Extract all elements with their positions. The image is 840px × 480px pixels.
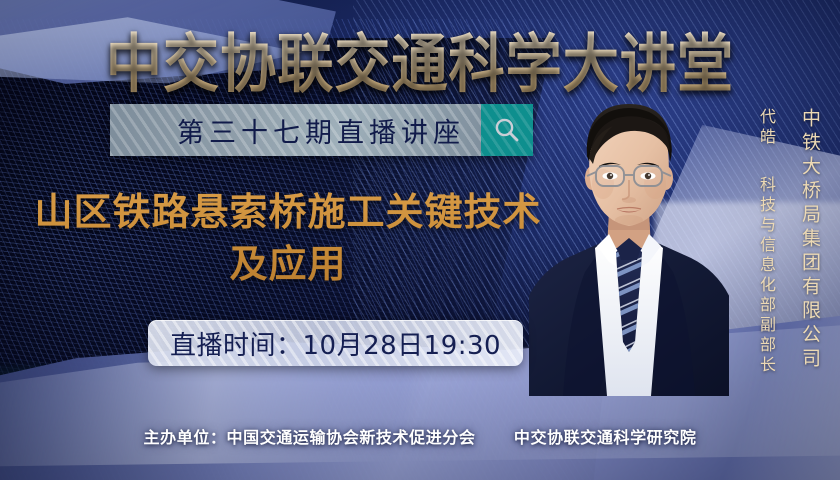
speaker-name: 代皓 bbox=[754, 108, 778, 148]
broadcast-time-pill: 直播时间：10月28日19:30 bbox=[148, 320, 523, 366]
broadcast-time-text: 直播时间：10月28日19:30 bbox=[170, 325, 501, 362]
speaker-organization: 中铁大桥局集团有限公司 bbox=[797, 108, 824, 372]
speaker-role: 科技与信息化部副部长 bbox=[754, 176, 778, 376]
organiser-secondary: 中交协联交通科学研究院 bbox=[514, 428, 697, 447]
headline-line-2: 及应用 bbox=[28, 238, 548, 290]
main-title: 中交协联交通科学大讲堂 bbox=[0, 12, 840, 92]
organiser-primary: 主办单位：中国交通运输协会新技术促进分会 bbox=[144, 428, 476, 447]
episode-bar: 第三十七期直播讲座 bbox=[110, 104, 533, 156]
speaker-portrait bbox=[529, 96, 729, 396]
headline-line-1: 山区铁路悬索桥施工关键技术 bbox=[34, 190, 541, 234]
live-lecture-poster: 中交协联交通科学大讲堂 第三十七期直播讲座 山区铁路悬索桥施工关键技术 及应用 … bbox=[0, 0, 840, 480]
organisers-line: 主办单位：中国交通运输协会新技术促进分会 中交协联交通科学研究院 bbox=[0, 424, 840, 448]
search-button[interactable] bbox=[481, 104, 533, 156]
main-title-text: 中交协联交通科学大讲堂 bbox=[106, 12, 734, 105]
lecture-headline: 山区铁路悬索桥施工关键技术 及应用 bbox=[28, 186, 548, 291]
search-icon bbox=[493, 116, 521, 144]
episode-label-wrap: 第三十七期直播讲座 bbox=[110, 104, 481, 156]
episode-label: 第三十七期直播讲座 bbox=[177, 111, 465, 150]
